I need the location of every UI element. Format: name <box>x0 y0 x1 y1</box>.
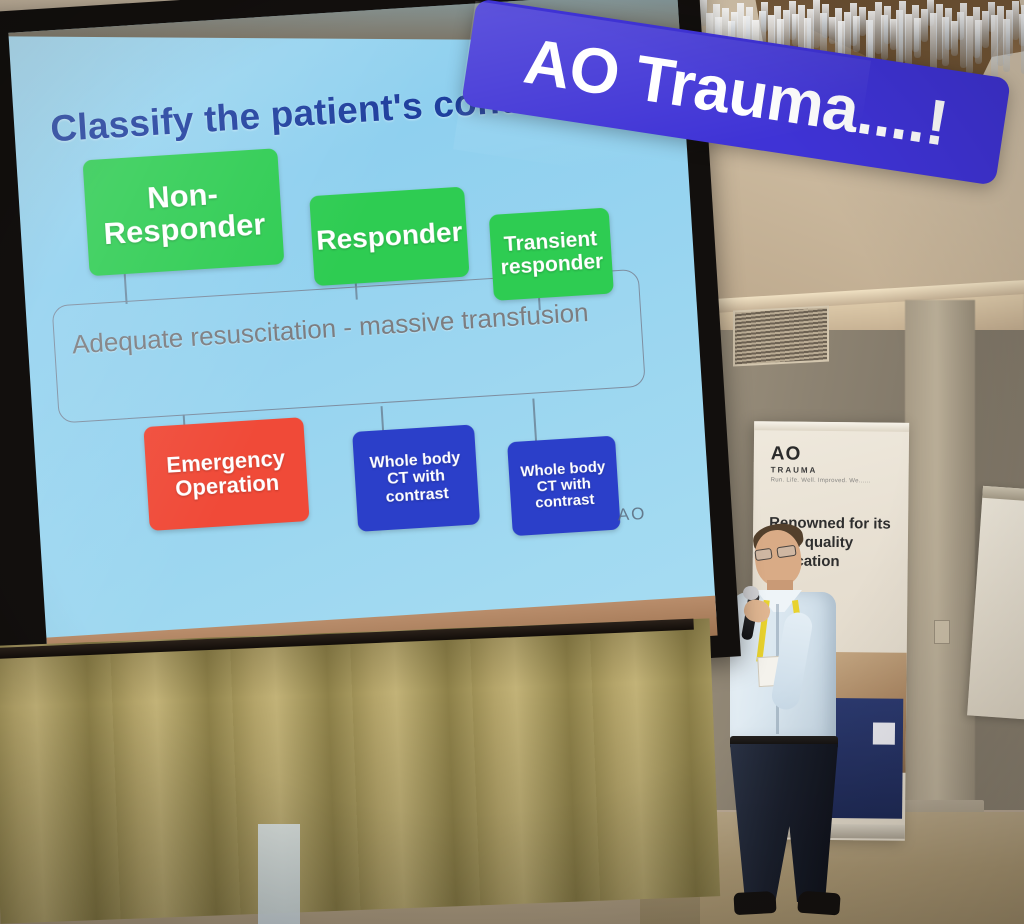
ct1-line-3: contrast <box>385 485 449 506</box>
connector-nonresponder <box>124 274 128 304</box>
rollup-banner-top-rail <box>754 421 909 432</box>
air-conditioning-vent-icon <box>733 305 829 366</box>
glasses-icon <box>754 548 772 561</box>
curtain-gap <box>258 824 300 924</box>
emergency-operation-line-2: Operation <box>175 471 280 501</box>
slide-node-responder-label: Responder <box>315 217 463 256</box>
wall-switch-icon[interactable] <box>934 620 950 644</box>
slide-node-transient-responder-label: Transient responder <box>499 228 604 280</box>
presenter-shoe-right <box>797 891 840 916</box>
slide-node-responder: Responder <box>309 187 469 287</box>
rollup-tagline: Run. Life. Well. Improved. We...... <box>771 477 871 484</box>
stage-curtains <box>0 618 720 923</box>
slide-node-ct-contrast-2: Whole body CT with contrast <box>507 436 621 537</box>
presentation-photo: AO TRAUMA Run. Life. Well. Improved. We.… <box>0 0 1024 924</box>
presenter-trousers <box>730 744 838 902</box>
flipchart-top-bar <box>982 486 1024 503</box>
slide-ao-watermark: AO <box>617 504 647 526</box>
curtain-shading <box>0 618 720 923</box>
ao-logo: AO <box>771 443 802 465</box>
slide-node-non-responder-label: Non- Responder <box>101 174 267 251</box>
slide-node-emergency-operation: Emergency Operation <box>143 417 309 531</box>
slide-node-transient-responder: Transient responder <box>489 208 614 301</box>
slide-node-non-responder: Non- Responder <box>83 148 285 276</box>
ct2-line-3: contrast <box>535 492 595 512</box>
slide-node-ct-contrast-1: Whole body CT with contrast <box>352 424 480 531</box>
ao-logo-subtitle: TRAUMA <box>771 465 818 474</box>
presenter-shoe-left <box>733 891 776 915</box>
